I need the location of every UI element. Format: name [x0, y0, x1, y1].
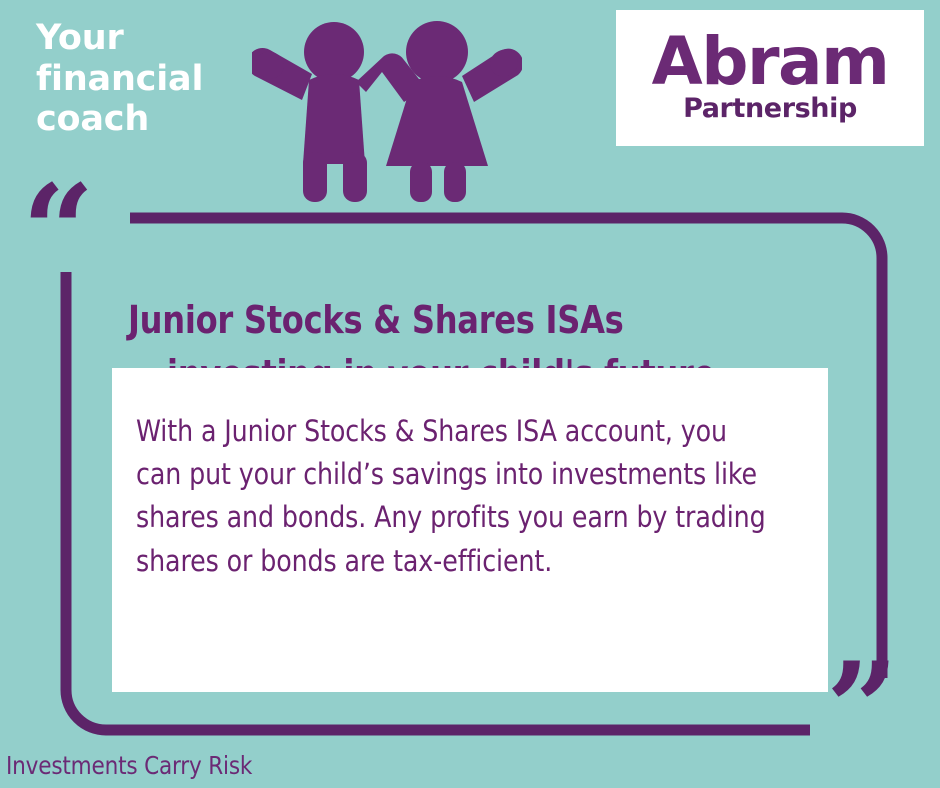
logo-wordmark: Abram: [652, 32, 889, 93]
abram-partnership-logo: Abram Partnership: [616, 10, 924, 146]
closing-quote-mark: ”: [826, 646, 898, 772]
risk-disclaimer: Investments Carry Risk: [6, 751, 252, 780]
body-card: With a Junior Stocks & Shares ISA accoun…: [112, 368, 828, 692]
social-graphic-canvas: Your financial coach: [0, 0, 940, 788]
logo-subtitle: Partnership: [683, 95, 857, 123]
brand-tagline: Your financial coach: [36, 18, 266, 140]
opening-quote-mark: “: [22, 168, 94, 294]
headline-line-1: Junior Stocks & Shares ISAs: [128, 298, 624, 342]
body-paragraph: With a Junior Stocks & Shares ISA accoun…: [136, 410, 780, 583]
two-children-icon: [252, 12, 522, 207]
